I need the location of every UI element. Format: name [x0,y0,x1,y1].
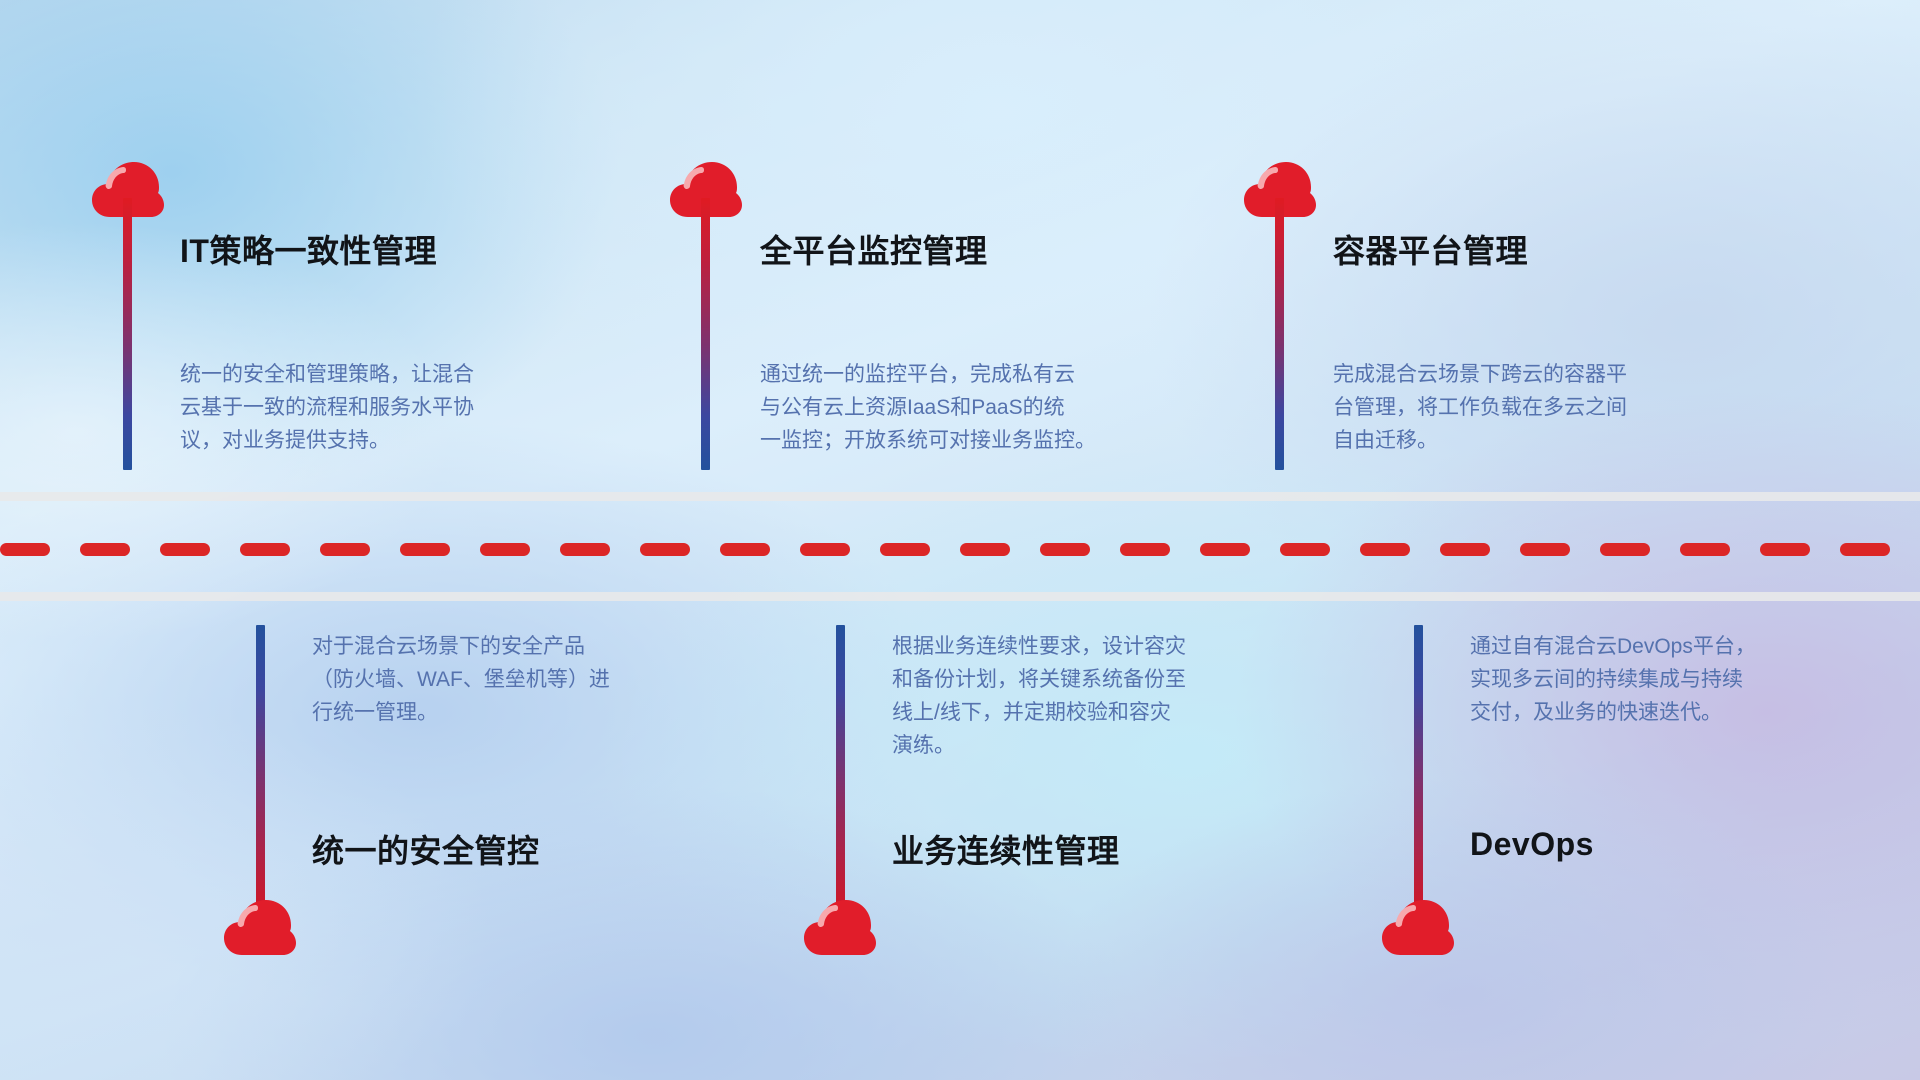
dash-segment [80,543,130,556]
bottom-item-1-title: 统一的安全管控 [312,826,540,872]
dash-segment [1360,543,1410,556]
dash-segment [960,543,1010,556]
dash-segment [320,543,370,556]
dash-segment [880,543,930,556]
divider-rule-top [0,492,1920,501]
dash-segment [1200,543,1250,556]
dash-segment [720,543,770,556]
bottom-item-1-body: 对于混合云场景下的安全产品 （防火墙、WAF、堡垒机等）进 行统一管理。 [312,630,742,729]
dash-segment [1600,543,1650,556]
top-item-3-body: 完成混合云场景下跨云的容器平 台管理，将工作负载在多云之间 自由迁移。 [1333,358,1773,457]
top-item-3-title: 容器平台管理 [1333,226,1528,272]
connector-stem [123,198,132,470]
divider-rule-bottom [0,592,1920,601]
dash-segment [480,543,530,556]
bottom-item-3-title: DevOps [1470,826,1594,863]
cloud-icon [224,898,296,961]
connector-stem [1275,198,1284,470]
dash-segment [1840,543,1890,556]
dash-segment [0,543,50,556]
connector-stem [256,625,265,915]
red-dashed-separator [0,543,1920,556]
connector-stem [1414,625,1423,915]
cloud-icon [1382,898,1454,961]
bottom-item-2-body: 根据业务连续性要求，设计容灾 和备份计划，将关键系统备份至 线上/线下，并定期校… [892,630,1322,762]
dash-segment [400,543,450,556]
dash-segment [560,543,610,556]
dash-segment [240,543,290,556]
dash-segment [1280,543,1330,556]
dash-segment [1760,543,1810,556]
top-item-1-body: 统一的安全和管理策略，让混合 云基于一致的流程和服务水平协 议，对业务提供支持。 [180,358,610,457]
dash-segment [1680,543,1730,556]
dash-segment [800,543,850,556]
connector-stem [701,198,710,470]
dash-segment [1520,543,1570,556]
top-item-2-body: 通过统一的监控平台，完成私有云 与公有云上资源IaaS和PaaS的统 一监控；开… [760,358,1210,457]
top-item-1-title: IT策略一致性管理 [180,226,437,272]
infographic-canvas: IT策略一致性管理 统一的安全和管理策略，让混合 云基于一致的流程和服务水平协 … [0,0,1920,1080]
cloud-icon [804,898,876,961]
top-item-2-title: 全平台监控管理 [760,226,988,272]
dash-segment [160,543,210,556]
dash-segment [640,543,690,556]
dash-segment [1120,543,1170,556]
dash-segment [1440,543,1490,556]
connector-stem [836,625,845,915]
bottom-item-3-body: 通过自有混合云DevOps平台， 实现多云间的持续集成与持续 交付，及业务的快速… [1470,630,1890,729]
dash-segment [1040,543,1090,556]
bottom-item-2-title: 业务连续性管理 [892,826,1120,872]
